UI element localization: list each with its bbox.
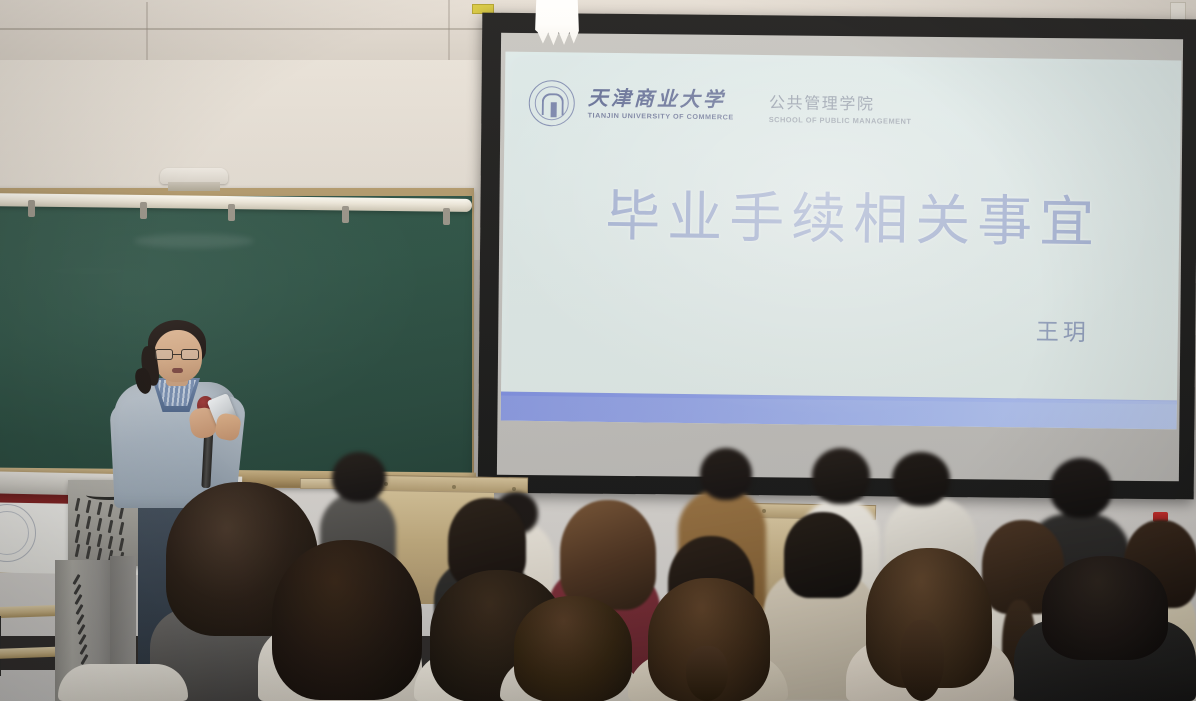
presenter-mouth: [172, 368, 183, 373]
board-clip: [228, 204, 235, 221]
screw: [762, 509, 766, 513]
slide-title: 毕业手续相关事宜: [553, 188, 1154, 251]
board-clip: [443, 208, 450, 225]
ceiling-seam: [448, 0, 450, 66]
screw: [512, 487, 516, 491]
university-name-block: 天津商业大学 TIANJIN UNIVERSITY OF COMMERCE: [588, 88, 735, 122]
school-name-cn: 公共管理学院: [769, 89, 912, 115]
university-name-en: TIANJIN UNIVERSITY OF COMMERCE: [588, 111, 734, 121]
student-head: [812, 448, 870, 504]
seal-arch-glyph: [542, 93, 564, 115]
slide-logo-row: 天津商业大学 TIANJIN UNIVERSITY OF COMMERCE 公共…: [528, 80, 911, 131]
university-seal-icon: [528, 80, 575, 127]
projected-slide: 天津商业大学 TIANJIN UNIVERSITY OF COMMERCE 公共…: [501, 52, 1182, 430]
student-hair: [272, 540, 422, 700]
light-bracket: [160, 168, 228, 184]
ceiling-seam: [146, 2, 148, 64]
desk-leg: [0, 616, 1, 676]
student-hair: [784, 512, 862, 598]
classroom-photo: 天津商业大学 TIANJIN UNIVERSITY OF COMMERCE 公共…: [0, 0, 1196, 701]
board-clip: [140, 202, 147, 219]
student-head: [892, 452, 950, 506]
student-head: [1050, 458, 1112, 518]
board-clip: [28, 200, 35, 217]
school-name-block: 公共管理学院 SCHOOL OF PUBLIC MANAGEMENT: [769, 89, 912, 126]
student-ponytail: [900, 620, 944, 701]
student-torso: [58, 664, 188, 701]
student-ponytail: [686, 646, 728, 701]
glasses-icon: [155, 349, 201, 360]
school-name-en: SCHOOL OF PUBLIC MANAGEMENT: [769, 115, 912, 126]
board-clip: [342, 206, 349, 223]
university-name-cn: 天津商业大学: [588, 88, 734, 112]
student-head: [700, 448, 752, 500]
student-head: [332, 452, 386, 502]
slide-presenter-name: 王玥: [1036, 313, 1090, 348]
student-hair: [1042, 556, 1168, 660]
student-hair: [514, 596, 632, 701]
student-hair: [560, 500, 656, 610]
screw: [452, 485, 456, 489]
